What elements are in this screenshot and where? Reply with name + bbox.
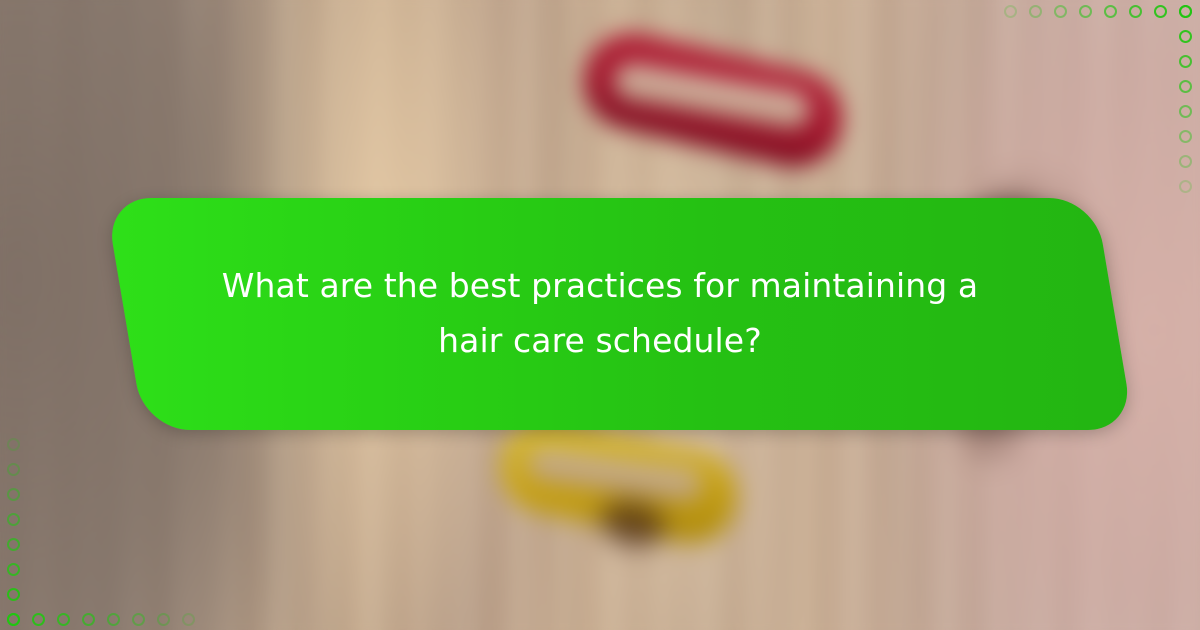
question-card: What are the best practices for maintain… [105, 198, 1095, 430]
screenshot-canvas: What are the best practices for maintain… [0, 0, 1200, 630]
question-card-text-wrap: What are the best practices for maintain… [105, 198, 1095, 430]
question-text: What are the best practices for maintain… [205, 259, 995, 369]
